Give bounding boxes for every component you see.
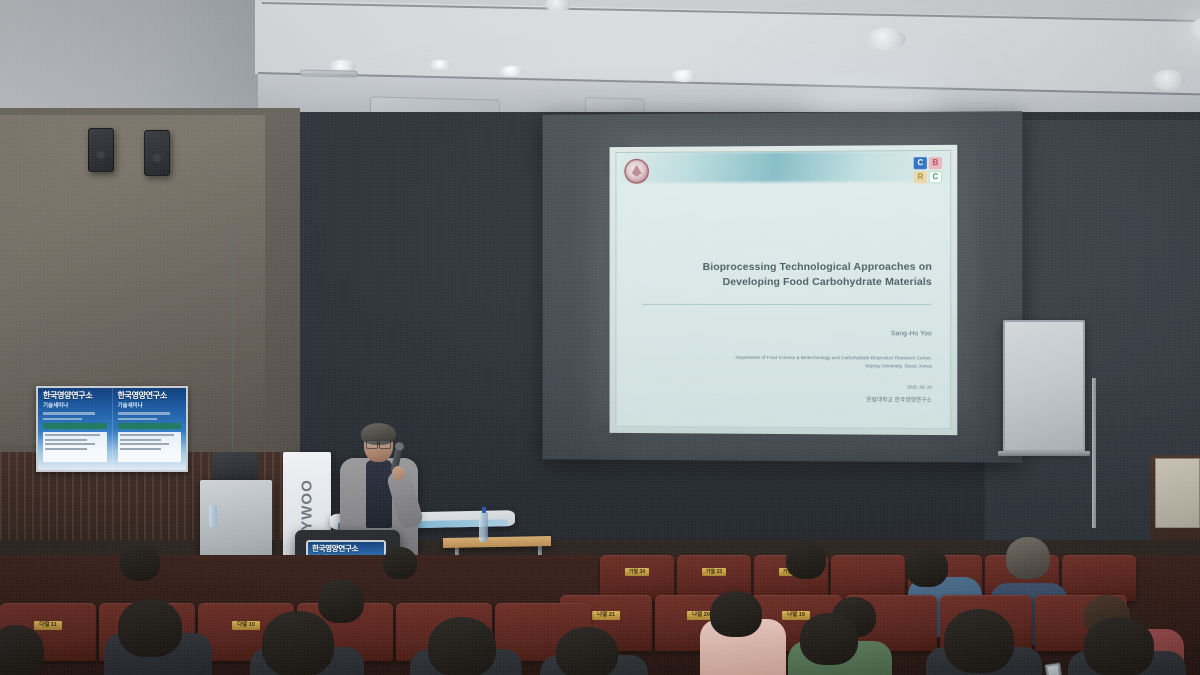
whiteboard	[1003, 320, 1085, 452]
wall-speaker-icon	[144, 130, 170, 176]
poster-row	[120, 443, 170, 445]
affiliation-line2: Sejong University, Seoul, Korea	[636, 361, 932, 370]
whiteboard-tray	[998, 451, 1090, 456]
poster-line	[118, 412, 170, 415]
poster-row	[45, 443, 95, 445]
audience-head	[1006, 537, 1050, 579]
glasses-icon	[366, 440, 391, 447]
slide-author: Sang-Ho Yoo	[891, 330, 932, 337]
speaker-hand	[392, 466, 405, 480]
seat-number-plate: 다열 11	[34, 621, 62, 630]
audience-head	[428, 617, 496, 675]
front-table	[443, 536, 551, 548]
poster-panel: 한국영양연구소 기술세미나	[113, 388, 187, 470]
poster-title: 한국영양연구소	[43, 392, 107, 400]
poster-row	[45, 439, 87, 441]
logo-letter-c: C	[914, 157, 927, 169]
poster-body	[43, 432, 107, 462]
whiteboard-stand-leg	[1092, 378, 1096, 528]
audience-head	[786, 541, 826, 579]
poster-line	[43, 412, 95, 415]
downlight-icon	[1152, 70, 1186, 90]
audience-head	[1084, 617, 1154, 675]
seat-number-plate: 나열 19	[782, 611, 810, 620]
slide-title-line1: Bioprocessing Technological Approaches o…	[616, 260, 931, 276]
poster-title: 한국영양연구소	[118, 392, 182, 400]
seat-number-plate: 가열 34	[625, 568, 649, 576]
seat-number-plate: 다열 10	[232, 621, 260, 630]
audience-head	[556, 627, 618, 675]
slide-divider	[642, 304, 932, 305]
downlight-icon	[672, 70, 696, 82]
poster-subtitle: 기술세미나	[118, 401, 182, 409]
audience-head	[118, 599, 182, 657]
presentation-slide: C B R C Bioprocessing Technological Appr…	[615, 150, 951, 429]
poster-row	[120, 434, 175, 436]
auditorium-room: 한국영양연구소 기술세미나 한국영양연구소 기술세미나	[0, 0, 1200, 675]
wall-corner-seam	[232, 112, 233, 454]
slide-accent-band	[616, 151, 950, 183]
poster-row	[120, 448, 162, 450]
audience-head	[383, 547, 417, 579]
seat-number-plate: 나열 21	[592, 611, 620, 620]
wall-poster: 한국영양연구소 기술세미나 한국영양연구소 기술세미나	[36, 386, 188, 472]
poster-line	[43, 418, 82, 421]
poster-row	[120, 439, 162, 441]
wall-speaker-icon	[88, 128, 114, 172]
audience-seating: 가열 34 가열 33 가열 32	[0, 555, 1200, 675]
slide-date: 2025. 09. 24	[907, 385, 932, 390]
banner-text: YWOO	[299, 479, 316, 531]
poster-band	[118, 423, 182, 429]
cbrc-logo-icon: C B R C	[914, 157, 942, 183]
audience-head	[906, 547, 948, 587]
poster-line	[118, 418, 157, 421]
side-cabinet	[1155, 458, 1200, 528]
podium-sign-title: 한국영양연구소	[312, 545, 380, 553]
downlight-icon	[866, 28, 906, 50]
slide-title-line2: Developing Food Carbohydrate Materials	[616, 275, 931, 290]
audience-head	[262, 611, 334, 675]
poster-row	[45, 448, 87, 450]
slide-affiliation: Department of Food Science & Biotechnolo…	[636, 354, 932, 371]
poster-panel: 한국영양연구소 기술세미나	[38, 388, 113, 470]
water-bottle	[479, 512, 488, 542]
audience-head	[120, 543, 160, 581]
poster-band	[43, 423, 107, 429]
poster-row	[45, 434, 100, 436]
slide-title: Bioprocessing Technological Approaches o…	[616, 260, 931, 291]
water-bottle	[209, 505, 217, 527]
poster-body	[118, 432, 182, 462]
downlight-icon	[500, 66, 524, 76]
ceiling-rail	[300, 69, 358, 77]
seat-number-plate: 가열 33	[702, 568, 726, 576]
logo-letter-c2: C	[929, 171, 942, 183]
projection-screen: C B R C Bioprocessing Technological Appr…	[610, 145, 958, 435]
downlight-icon	[430, 60, 452, 69]
audience-head	[318, 579, 364, 623]
audience-head	[800, 613, 858, 665]
audience-head	[944, 609, 1014, 673]
slide-host-organization: 한림대학교 한국영양연구소	[866, 395, 932, 403]
university-seal-icon	[624, 159, 649, 184]
audience-head	[710, 591, 762, 637]
speaker-shirt	[366, 460, 392, 528]
poster-subtitle: 기술세미나	[43, 401, 107, 409]
logo-letter-r: R	[914, 171, 927, 183]
smartphone-icon	[1044, 662, 1063, 675]
logo-letter-b: B	[929, 157, 942, 169]
seminar-photograph: 한국영양연구소 기술세미나 한국영양연구소 기술세미나	[0, 0, 1200, 675]
